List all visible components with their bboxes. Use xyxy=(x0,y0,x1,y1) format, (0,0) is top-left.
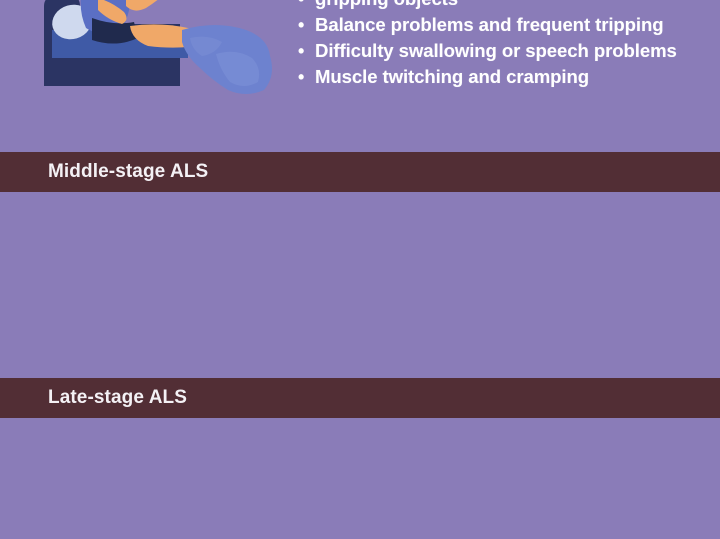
section-header-late-stage: Late-stage ALS xyxy=(0,378,720,418)
section-title: Late-stage ALS xyxy=(0,387,187,409)
section-early-stage: gripping objects Balance problems and fr… xyxy=(0,0,720,152)
section-title: Middle-stage ALS xyxy=(0,161,208,183)
person-lying-in-bed-illustration xyxy=(30,0,292,104)
list-item: Balance problems and frequent tripping xyxy=(296,12,708,38)
bullet-list-early-stage: gripping objects Balance problems and fr… xyxy=(296,0,708,90)
list-item: Difficulty swallowing or speech problems xyxy=(296,38,708,64)
list-item: gripping objects xyxy=(296,0,708,12)
als-stages-infographic: gripping objects Balance problems and fr… xyxy=(0,0,720,539)
list-item: Muscle twitching and cramping xyxy=(296,64,708,90)
section-late-stage: Mobility is extremely limited Most peopl… xyxy=(0,418,720,539)
section-header-middle-stage: Middle-stage ALS xyxy=(0,152,720,192)
section-middle-stage: Some muscles become paralyzed Walkers an… xyxy=(0,192,720,378)
